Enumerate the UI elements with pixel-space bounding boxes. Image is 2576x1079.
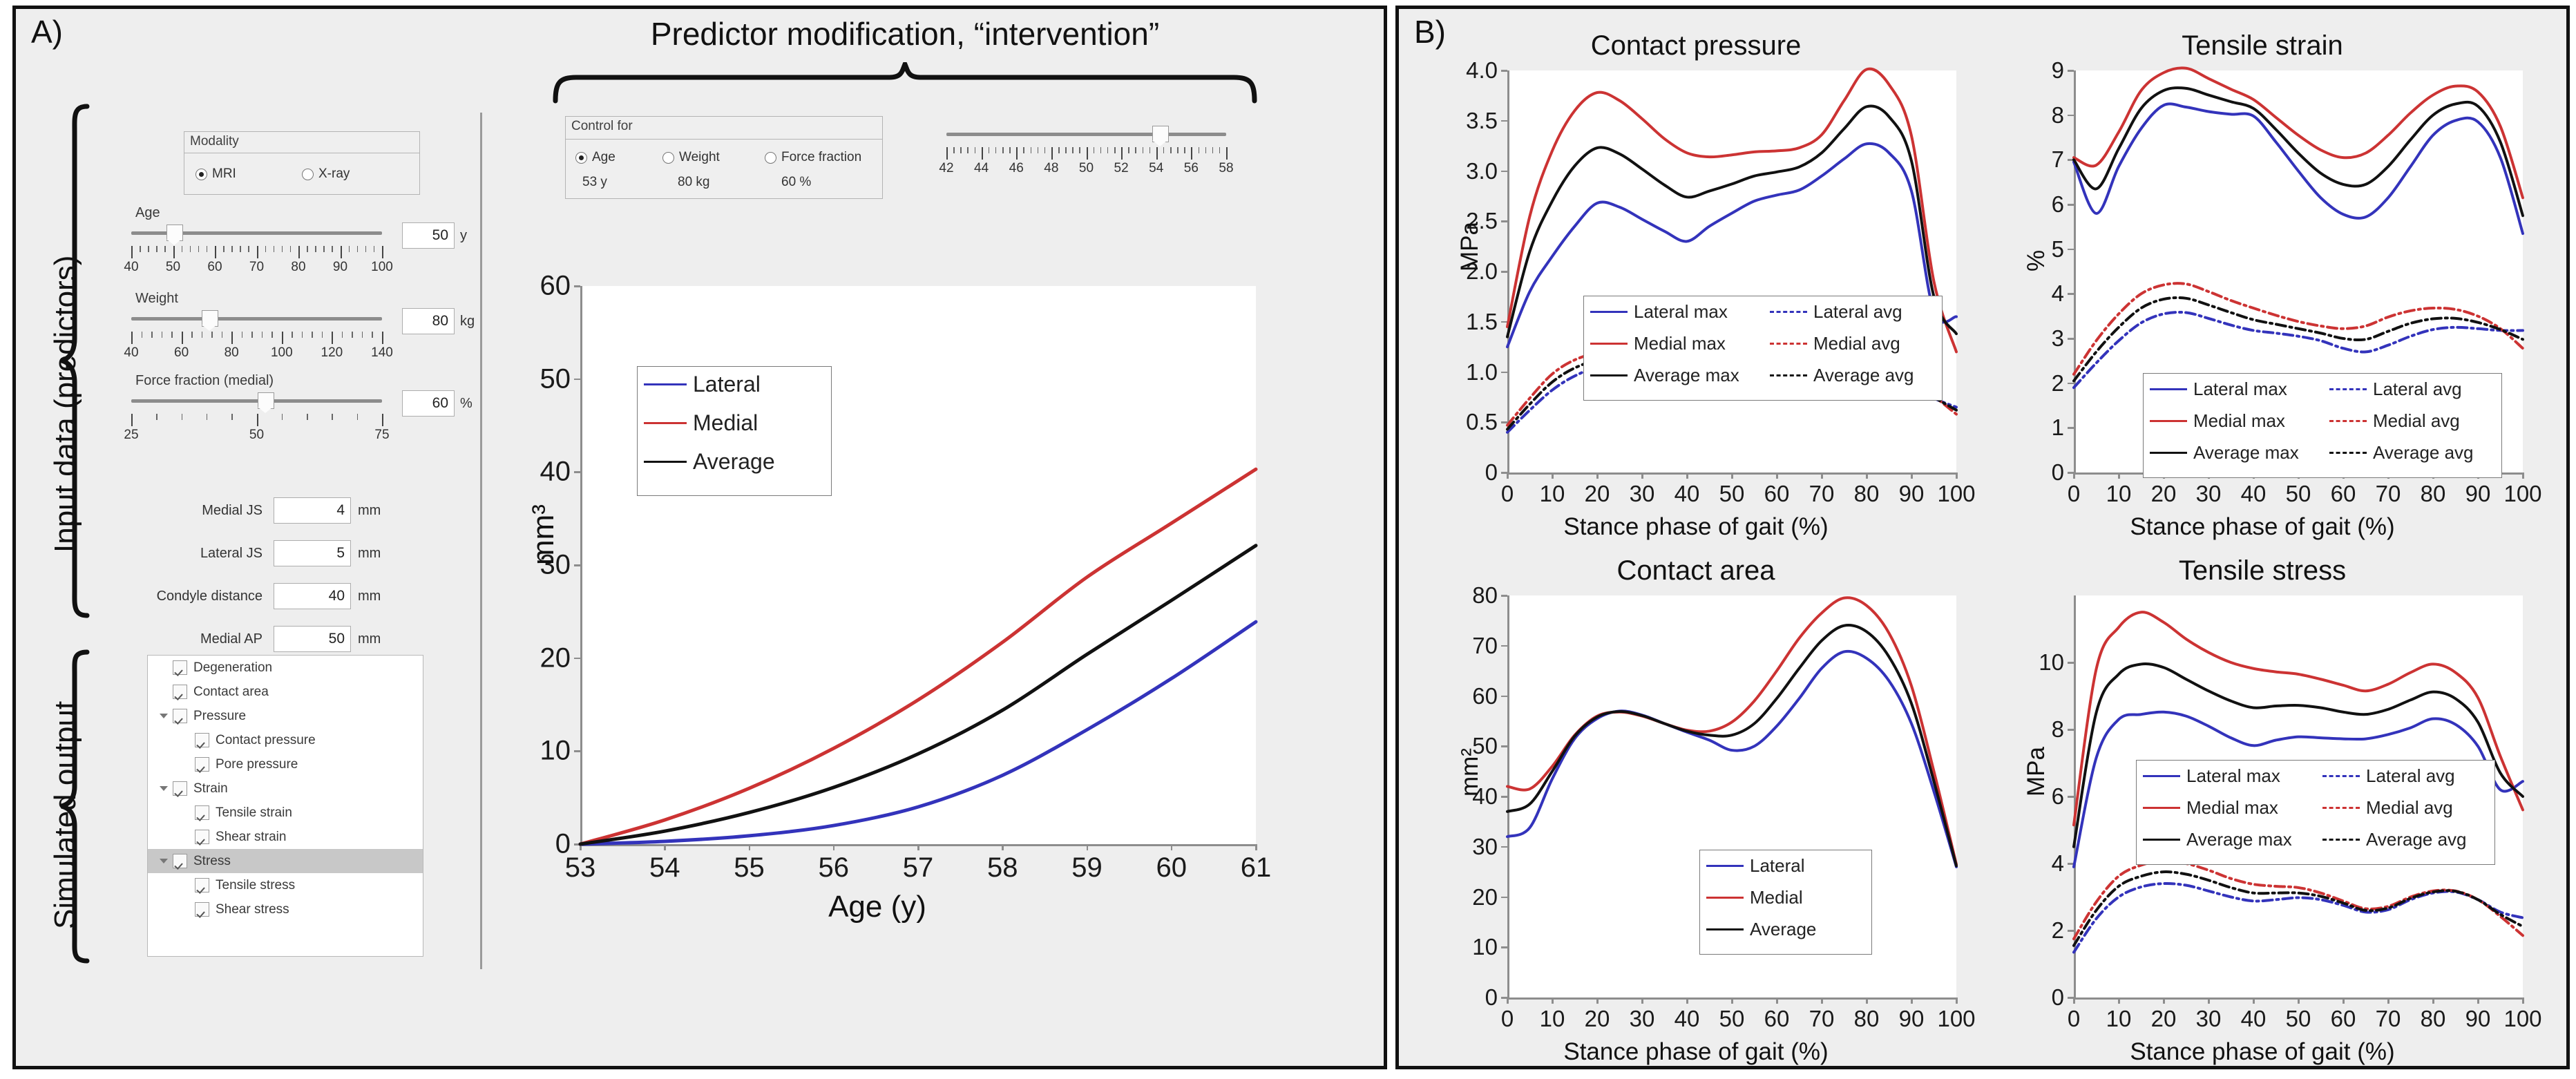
slider-weight-unit: kg — [460, 314, 475, 330]
tree-row[interactable]: Strain — [148, 776, 423, 801]
panel-a-label: A) — [31, 13, 63, 50]
legend-entry: Medial avg — [2322, 797, 2453, 819]
intervention-slider-tick-labels: 424446485052545658 — [946, 161, 1226, 178]
control-for-radio-age-label: Age — [592, 150, 616, 165]
control-for-group: Control for Age Weight Force fraction 53… — [565, 116, 883, 199]
field-input-condyle-distance[interactable]: 40 — [274, 583, 351, 609]
legend-label: Lateral max — [2186, 765, 2280, 787]
radio-dot-icon — [765, 152, 776, 164]
legend-label: Lateral max — [1634, 301, 1728, 323]
ruler-tick-label: 25 — [124, 428, 138, 443]
legend-entry: Average max — [2150, 442, 2299, 464]
field-input-medial-ap[interactable]: 50 — [274, 626, 351, 652]
tree-row-label: Contact pressure — [216, 733, 316, 748]
legend-swatch — [1706, 865, 1744, 867]
legend-swatch — [1706, 928, 1744, 930]
legend-label: Medial avg — [2373, 410, 2460, 432]
control-for-age-value: 53 y — [582, 175, 607, 190]
control-for-weight-value: 80 kg — [678, 175, 709, 190]
legend-label: Lateral — [693, 372, 761, 397]
legend-swatch — [1770, 311, 1807, 313]
checkbox-checked-icon[interactable] — [195, 878, 209, 892]
legend-label: Average — [693, 449, 775, 475]
tree-row[interactable]: Pore pressure — [148, 752, 423, 776]
radio-dot-selected-icon — [575, 152, 587, 164]
control-for-force-fraction-value: 60 % — [781, 175, 811, 190]
slider-age-tick-labels: 405060708090100 — [131, 260, 382, 276]
series-line — [580, 622, 1256, 844]
legend-entry: Lateral max — [1590, 301, 1728, 323]
ruler-tick-label: 100 — [371, 260, 393, 275]
field-input-medial-js[interactable]: 4 — [274, 497, 351, 524]
legend-entry: Average — [1706, 919, 1816, 940]
legend-label: Average avg — [2366, 829, 2467, 850]
control-for-radio-weight[interactable]: Weight — [662, 150, 720, 165]
legend-label: Medial — [693, 410, 758, 436]
legend-swatch — [2322, 839, 2360, 841]
radio-dot-icon — [662, 152, 674, 164]
series-line — [1507, 651, 1956, 867]
legend-label: Average max — [2193, 442, 2299, 464]
ruler-tick-label: 44 — [974, 161, 989, 176]
legend-swatch — [2143, 807, 2180, 809]
legend-entry: Medial avg — [2329, 410, 2460, 432]
simulated-output-tree[interactable]: DegenerationContact areaPressureContact … — [147, 655, 423, 957]
slider-weight-tick-labels: 406080100120140 — [131, 345, 382, 362]
tree-row-label: Pore pressure — [216, 757, 298, 772]
chevron-down-icon[interactable] — [155, 859, 173, 863]
tree-row-label: Tensile strain — [216, 805, 292, 821]
slider-force-fraction-label: Force fraction (medial) — [135, 373, 274, 389]
slider-age-knob[interactable] — [166, 225, 183, 241]
legend-swatch — [644, 461, 687, 463]
control-for-title: Control for — [571, 119, 633, 134]
legend-entry: Average avg — [2322, 829, 2467, 850]
tree-row-label: Contact area — [193, 685, 269, 700]
legend-label: Lateral — [1750, 855, 1805, 877]
ruler-tick-label: 48 — [1044, 161, 1058, 176]
legend-swatch — [2329, 452, 2367, 454]
legend-swatch — [2322, 807, 2360, 809]
checkbox-checked-icon[interactable] — [173, 660, 187, 675]
series-line — [2074, 104, 2523, 233]
tree-row[interactable]: Shear strain — [148, 825, 423, 849]
chart-tensile-stress: Tensile stress02468100102030405060708090… — [1990, 553, 2535, 1064]
field-label-condyle-distance: Condyle distance — [124, 589, 263, 604]
panel-a-inner-divider — [480, 113, 482, 969]
legend-swatch — [2150, 452, 2187, 454]
legend-label: Average — [1750, 919, 1816, 940]
legend-swatch — [2150, 420, 2187, 422]
series-line — [2074, 861, 2523, 939]
slider-force-fraction-track[interactable] — [131, 399, 382, 403]
brace-intervention — [553, 62, 1257, 104]
intervention-slider-knob[interactable] — [1152, 126, 1169, 142]
chart-series — [1423, 553, 1969, 1064]
legend-label: Average avg — [2373, 442, 2474, 464]
radio-dot-selected-icon — [195, 169, 207, 180]
ruler-tick-label: 56 — [1184, 161, 1199, 176]
legend-swatch — [2150, 388, 2187, 390]
ruler-tick-label: 50 — [1079, 161, 1094, 176]
chevron-down-icon[interactable] — [155, 786, 173, 791]
ruler-tick-label: 80 — [291, 260, 305, 275]
slider-age-ruler — [131, 246, 382, 258]
legend-entry: Lateral max — [2143, 765, 2280, 787]
series-line — [2074, 68, 2523, 198]
slider-age-value[interactable]: 50 — [402, 222, 455, 249]
intervention-title: Predictor modification, “intervention” — [539, 15, 1271, 52]
figure-root: A) Input data (predictors) Simulated out… — [0, 0, 2576, 1079]
ruler-tick-label: 58 — [1219, 161, 1233, 176]
legend-label: Medial avg — [2366, 797, 2453, 819]
legend-label: Medial avg — [1813, 333, 1900, 354]
modality-radio-mri-label: MRI — [212, 166, 236, 182]
slider-force-fraction-tick-labels: 255075 — [131, 428, 382, 444]
legend-entry: Lateral avg — [1770, 301, 1902, 323]
tree-row[interactable]: Degeneration — [148, 656, 423, 680]
legend-label: Medial max — [1634, 333, 1726, 354]
legend-entry: Average avg — [2329, 442, 2474, 464]
ruler-tick-label: 50 — [249, 428, 264, 443]
legend-swatch — [1590, 343, 1628, 345]
checkbox-checked-icon[interactable] — [173, 685, 187, 699]
series-line — [580, 469, 1256, 844]
modality-group: Modality MRI X-ray — [184, 131, 420, 195]
slider-force-fraction-ruler — [131, 414, 382, 426]
tree-row[interactable]: Shear stress — [148, 897, 423, 922]
chevron-down-icon[interactable] — [155, 714, 173, 718]
slider-weight-track[interactable] — [131, 317, 382, 321]
checkbox-checked-icon[interactable] — [173, 781, 187, 796]
field-input-lateral-js[interactable]: 5 — [274, 540, 351, 566]
slider-age-label: Age — [135, 205, 160, 221]
legend-entry: Medial avg — [1770, 333, 1900, 354]
field-unit: mm — [358, 589, 381, 604]
ruler-tick-label: 60 — [207, 260, 222, 275]
legend-label: Medial — [1750, 887, 1803, 908]
ruler-tick-label: 75 — [374, 428, 389, 443]
legend-label: Lateral avg — [1813, 301, 1902, 323]
legend-entry: Medial — [644, 410, 758, 436]
series-line — [1507, 598, 1956, 864]
legend-label: Average max — [1634, 365, 1739, 386]
legend-entry: Medial max — [1590, 333, 1726, 354]
tree-row[interactable]: Tensile stress — [148, 873, 423, 897]
legend-label: Lateral max — [2193, 379, 2287, 400]
legend-label: Average avg — [1813, 365, 1914, 386]
slider-weight-value[interactable]: 80 — [402, 308, 455, 334]
chart-contact-pressure: Contact pressure00.51.01.52.02.53.03.54.… — [1423, 28, 1969, 539]
field-unit: mm — [358, 546, 381, 562]
slider-weight-ruler — [131, 332, 382, 344]
legend-label: Average max — [2186, 829, 2292, 850]
control-for-radio-weight-label: Weight — [679, 150, 720, 165]
ruler-tick-label: 120 — [321, 345, 343, 361]
legend-swatch — [644, 383, 687, 385]
ruler-tick-label: 100 — [271, 345, 293, 361]
legend-label: Lateral avg — [2373, 379, 2462, 400]
modality-radio-xray[interactable]: X-ray — [302, 166, 350, 182]
legend-swatch — [1706, 897, 1744, 899]
ruler-tick-label: 50 — [166, 260, 180, 275]
brace-simulated-output — [59, 649, 90, 964]
legend-entry: Lateral avg — [2329, 379, 2462, 400]
tree-row-label: Pressure — [193, 709, 246, 724]
ruler-tick-label: 40 — [124, 260, 138, 275]
chart-degeneration-volume: Degeneration volume010203040506053545556… — [484, 243, 1271, 948]
series-line — [2074, 88, 2523, 216]
ruler-tick-label: 70 — [249, 260, 264, 275]
chart-contact-area: Contact area0102030405060708001020304050… — [1423, 553, 1969, 1064]
modality-radio-mri[interactable]: MRI — [195, 166, 236, 182]
checkbox-checked-icon[interactable] — [173, 709, 187, 723]
radio-dot-icon — [302, 169, 314, 180]
slider-force-fraction-unit: % — [460, 396, 473, 412]
legend-swatch — [1770, 343, 1807, 345]
legend-entry: Medial max — [2143, 797, 2278, 819]
ruler-tick-label: 54 — [1149, 161, 1163, 176]
legend-entry: Lateral — [644, 372, 761, 397]
checkbox-checked-icon[interactable] — [195, 733, 209, 747]
tree-row[interactable]: Pressure — [148, 704, 423, 728]
ruler-tick-label: 42 — [939, 161, 953, 176]
intervention-slider-track[interactable] — [946, 133, 1226, 136]
ruler-tick-label: 40 — [124, 345, 138, 361]
legend-swatch — [644, 422, 687, 424]
series-line — [2074, 872, 2523, 946]
field-label-medial-js: Medial JS — [124, 503, 263, 519]
slider-weight-knob[interactable] — [202, 310, 218, 327]
series-line — [1507, 625, 1956, 866]
tree-row[interactable]: Tensile strain — [148, 801, 423, 825]
chart-series — [484, 243, 1271, 948]
slider-force-fraction-value[interactable]: 60 — [402, 390, 455, 417]
control-for-radio-force-fraction-label: Force fraction — [781, 150, 861, 165]
legend-label: Medial max — [2186, 797, 2278, 819]
checkbox-checked-icon[interactable] — [195, 902, 209, 917]
control-for-radio-age[interactable]: Age — [575, 150, 616, 165]
chart-tensile-strain: Tensile strain01234567890102030405060708… — [1990, 28, 2535, 539]
legend-swatch — [2329, 420, 2367, 422]
modality-radio-xray-label: X-ray — [318, 166, 350, 182]
chart-series — [1423, 28, 1969, 539]
legend-label: Medial max — [2193, 410, 2285, 432]
checkbox-checked-icon[interactable] — [173, 854, 187, 868]
legend-swatch — [2322, 775, 2360, 777]
legend-swatch — [1770, 374, 1807, 376]
field-label-medial-ap: Medial AP — [124, 631, 263, 647]
slider-age-unit: y — [460, 228, 467, 244]
tree-row-label: Degeneration — [193, 660, 272, 676]
legend-entry: Average — [644, 449, 775, 475]
tree-row[interactable]: Contact area — [148, 680, 423, 704]
tree-row[interactable]: Stress — [148, 849, 423, 873]
legend-entry: Medial max — [2150, 410, 2285, 432]
legend-entry: Average max — [1590, 365, 1739, 386]
legend-entry: Medial — [1706, 887, 1803, 908]
checkbox-checked-icon[interactable] — [195, 757, 209, 772]
legend-entry: Lateral — [1706, 855, 1805, 877]
tree-row-label: Tensile stress — [216, 878, 295, 893]
tree-row[interactable]: Contact pressure — [148, 728, 423, 752]
ruler-tick-label: 46 — [1009, 161, 1024, 176]
brace-input-data — [59, 104, 90, 618]
ruler-tick-label: 60 — [174, 345, 189, 361]
legend-label: Lateral avg — [2366, 765, 2455, 787]
slider-force-fraction-knob[interactable] — [258, 392, 274, 409]
ruler-tick-label: 140 — [371, 345, 393, 361]
tree-row-label: Shear stress — [216, 902, 289, 917]
legend-swatch — [2143, 775, 2180, 777]
tree-row-label: Strain — [193, 781, 228, 796]
tree-row-label: Shear strain — [216, 830, 286, 845]
legend-swatch — [2329, 388, 2367, 390]
legend-entry: Average avg — [1770, 365, 1914, 386]
intervention-slider-ruler — [946, 147, 1226, 160]
field-label-lateral-js: Lateral JS — [124, 546, 263, 562]
ruler-tick-label: 52 — [1114, 161, 1129, 176]
checkbox-checked-icon[interactable] — [195, 805, 209, 820]
legend-entry: Lateral avg — [2322, 765, 2455, 787]
control-for-radio-force-fraction[interactable]: Force fraction — [765, 150, 861, 165]
field-unit: mm — [358, 503, 381, 519]
legend-entry: Lateral max — [2150, 379, 2287, 400]
series-line — [2074, 298, 2523, 381]
ruler-tick-label: 80 — [225, 345, 239, 361]
field-unit: mm — [358, 631, 381, 647]
checkbox-checked-icon[interactable] — [195, 830, 209, 844]
legend-swatch — [1590, 374, 1628, 376]
slider-weight-label: Weight — [135, 291, 178, 307]
ruler-tick-label: 90 — [333, 260, 347, 275]
legend-swatch — [2143, 839, 2180, 841]
series-line — [580, 546, 1256, 844]
tree-row-label: Stress — [193, 854, 231, 869]
modality-title: Modality — [190, 134, 239, 149]
legend-entry: Average max — [2143, 829, 2292, 850]
legend-swatch — [1590, 311, 1628, 313]
